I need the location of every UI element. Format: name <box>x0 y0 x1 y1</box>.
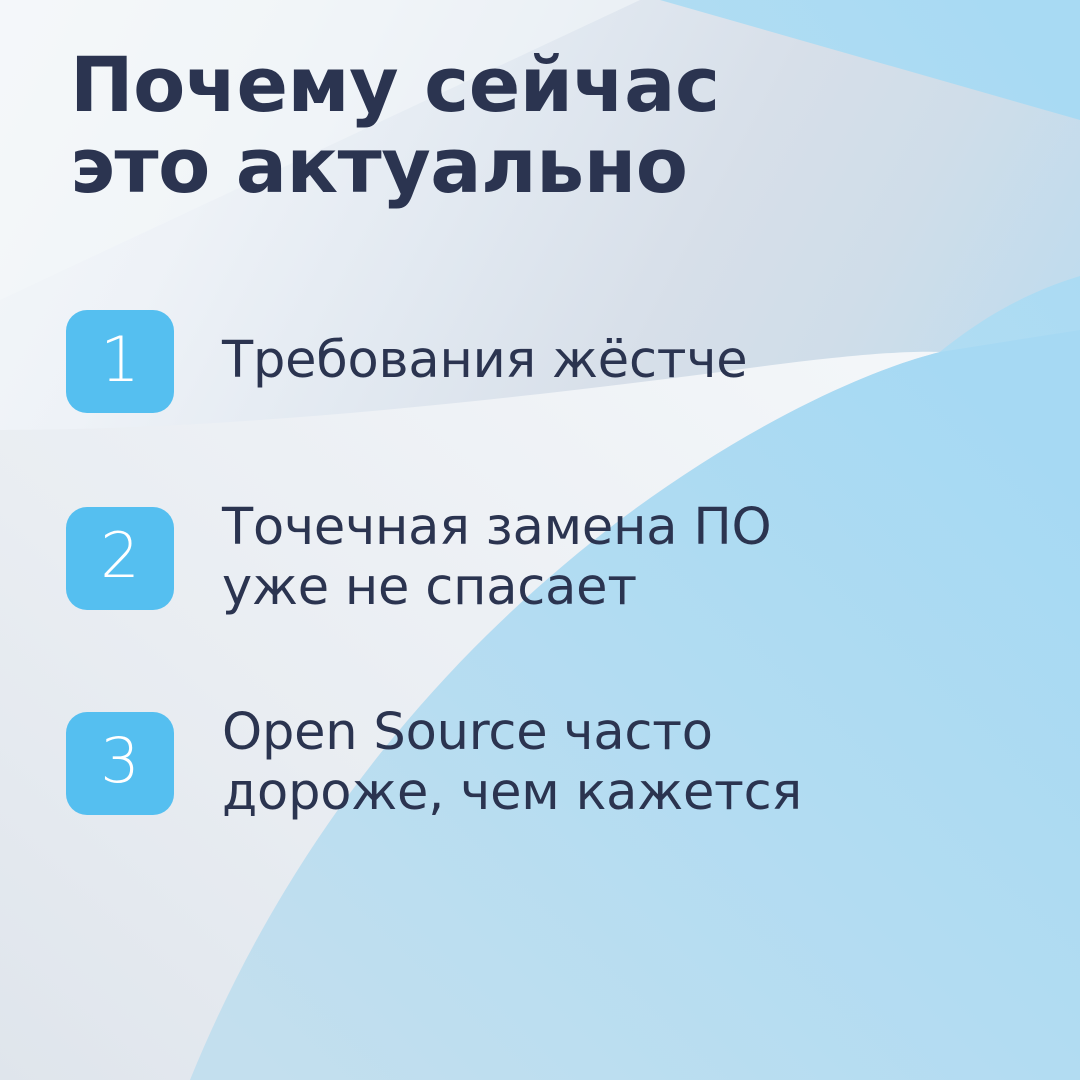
list-item-number-badge: 1 <box>66 310 174 413</box>
list-item-label: Точечная замена ПО уже не спасает <box>222 498 771 618</box>
slide-content: Почему сейчас это актуально 1 Требования… <box>0 0 1080 1080</box>
list-item: 2 Точечная замена ПО уже не спасает <box>66 498 771 618</box>
list-item-label: Open Source часто дороже, чем кажется <box>222 703 802 823</box>
list-item-label: Требования жёстче <box>222 331 747 391</box>
page-title: Почему сейчас это актуально <box>70 44 830 207</box>
list-item: 3 Open Source часто дороже, чем кажется <box>66 703 802 823</box>
list-item-number-badge: 3 <box>66 712 174 815</box>
slide-canvas: Почему сейчас это актуально 1 Требования… <box>0 0 1080 1080</box>
list-item: 1 Требования жёстче <box>66 310 747 413</box>
list-item-number-badge: 2 <box>66 507 174 610</box>
